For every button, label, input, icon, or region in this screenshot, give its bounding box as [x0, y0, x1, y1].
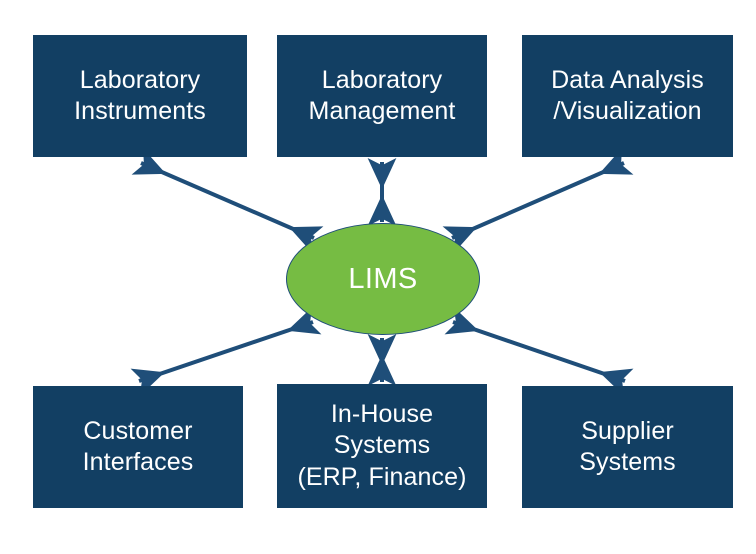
- connector-hub-customer-interfaces: [139, 322, 313, 381]
- lims-diagram: Laboratory Instruments Laboratory Manage…: [0, 0, 756, 554]
- node-label-line: Laboratory: [322, 65, 443, 97]
- node-label-line: Systems: [579, 447, 676, 479]
- node-label-line: Management: [309, 96, 456, 128]
- node-label-line: In-House: [331, 399, 433, 431]
- node-in-house-systems[interactable]: In-House Systems (ERP, Finance): [277, 384, 487, 508]
- node-label-line: /Visualization: [553, 96, 701, 128]
- connector-hub-supplier-systems: [453, 322, 625, 381]
- node-label-line: Systems: [334, 430, 431, 462]
- connector-hub-data-analysis-visualization: [452, 163, 624, 238]
- node-laboratory-management[interactable]: Laboratory Management: [277, 35, 487, 157]
- node-label-line: Laboratory: [80, 65, 201, 97]
- node-label-line: Data Analysis: [551, 65, 704, 97]
- node-supplier-systems[interactable]: Supplier Systems: [522, 386, 733, 508]
- hub-node-lims[interactable]: LIMS: [286, 223, 480, 335]
- node-label-line: Customer: [83, 416, 192, 448]
- node-label-line: (ERP, Finance): [297, 462, 466, 494]
- node-label-line: Interfaces: [83, 447, 194, 479]
- node-data-analysis-visualization[interactable]: Data Analysis /Visualization: [522, 35, 733, 157]
- hub-label: LIMS: [348, 263, 417, 296]
- node-laboratory-instruments[interactable]: Laboratory Instruments: [33, 35, 247, 157]
- node-label-line: Supplier: [581, 416, 674, 448]
- node-label-line: Instruments: [74, 96, 206, 128]
- connector-hub-laboratory-instruments: [141, 163, 314, 238]
- node-customer-interfaces[interactable]: Customer Interfaces: [33, 386, 243, 508]
